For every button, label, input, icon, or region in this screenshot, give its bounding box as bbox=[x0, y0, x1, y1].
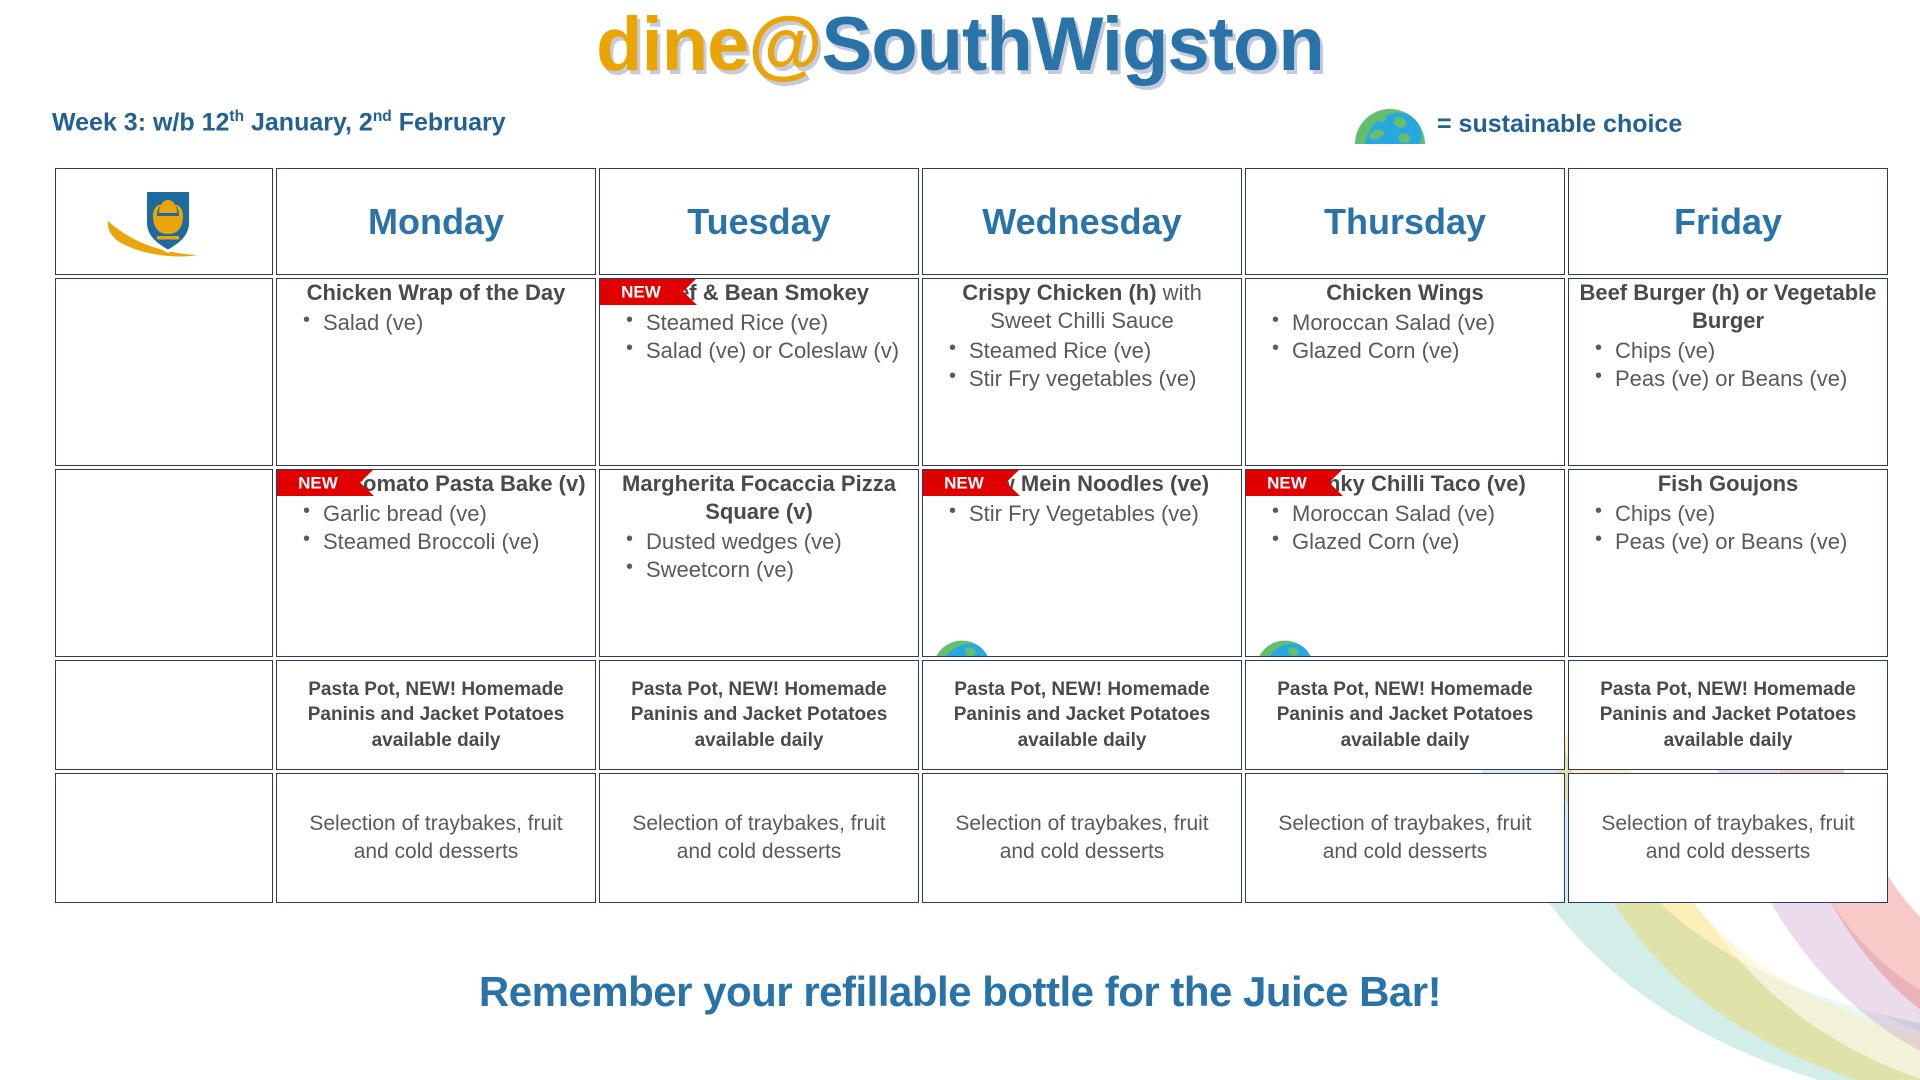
cell-snacks-wednesday: Pasta Pot, NEW! Homemade Paninis and Jac… bbox=[922, 660, 1242, 770]
sides-list: Moroccan Salad (ve) Glazed Corn (ve) bbox=[1246, 309, 1564, 365]
footer: Remember your refillable bottle for the … bbox=[0, 968, 1920, 1016]
dessert-text: Selection of traybakes, fruit and cold d… bbox=[600, 810, 918, 865]
list-item: Peas (ve) or Beans (ve) bbox=[1593, 528, 1887, 556]
dessert-text: Selection of traybakes, fruit and cold d… bbox=[1569, 810, 1887, 865]
cell-option1-thursday: Chicken Wings Moroccan Salad (ve) Glazed… bbox=[1245, 278, 1565, 466]
weekly-menu-table: Monday Tuesday Wednesday Thursday Friday… bbox=[52, 165, 1891, 906]
list-item: Salad (ve) or Coleslaw (v) bbox=[624, 337, 918, 365]
cell-inner: Crispy Chicken (h) with Sweet Chilli Sau… bbox=[923, 279, 1241, 465]
list-item: Steamed Rice (ve) bbox=[624, 309, 918, 337]
dish-title: Chicken Wrap of the Day bbox=[277, 279, 595, 307]
dish-title-bold: Fish Goujons bbox=[1658, 471, 1799, 496]
list-item: Chips (ve) bbox=[1593, 337, 1887, 365]
dish-title-bold: Beef Burger (h) or Vegetable Burger bbox=[1579, 280, 1876, 333]
cell-inner: Margherita Focaccia Pizza Square (v) Dus… bbox=[600, 470, 918, 656]
footer-text: Remember your refillable bottle for the … bbox=[479, 968, 1441, 1016]
list-item: Garlic bread (ve) bbox=[301, 500, 595, 528]
list-item: Salad (ve) bbox=[301, 309, 595, 337]
dessert-text: Selection of traybakes, fruit and cold d… bbox=[923, 810, 1241, 865]
list-item: Steamed Rice (ve) bbox=[947, 337, 1241, 365]
globe-icon bbox=[1355, 104, 1425, 144]
snack-text: Pasta Pot, NEW! Homemade Paninis and Jac… bbox=[277, 677, 595, 753]
dish-title-bold: Beef & Bean Smokey bbox=[649, 280, 869, 305]
title-blue-part: SouthWigston bbox=[822, 2, 1324, 87]
cell-dessert-friday: Selection of traybakes, fruit and cold d… bbox=[1568, 773, 1888, 903]
sides-list: Chips (ve) Peas (ve) or Beans (ve) bbox=[1569, 337, 1887, 393]
list-item: Peas (ve) or Beans (ve) bbox=[1593, 365, 1887, 393]
cell-snacks-tuesday: Pasta Pot, NEW! Homemade Paninis and Jac… bbox=[599, 660, 919, 770]
menu-poster: dine@SouthWigston Week 3: w/b 12th Janua… bbox=[0, 0, 1920, 1080]
dessert-text: Selection of traybakes, fruit and cold d… bbox=[277, 810, 595, 865]
cell-dessert-monday: Selection of traybakes, fruit and cold d… bbox=[276, 773, 596, 903]
list-item: Sweetcorn (ve) bbox=[624, 556, 918, 584]
day-header-thursday: Thursday bbox=[1245, 168, 1565, 275]
day-header-tuesday: Tuesday bbox=[599, 168, 919, 275]
cell-inner: NEW Chunky Chilli Taco (ve) Moroccan Sal… bbox=[1246, 470, 1564, 656]
sides-list: Dusted wedges (ve) Sweetcorn (ve) bbox=[600, 528, 918, 584]
dish-title: Chunky Chilli Taco (ve) bbox=[1246, 470, 1564, 498]
table-row-dessert: Dessert Selection of traybakes, fruit an… bbox=[55, 773, 1888, 903]
week-sup-nd: nd bbox=[373, 108, 392, 125]
globe-icon bbox=[933, 636, 991, 657]
week-sup-th: th bbox=[229, 108, 244, 125]
week-prefix: Week 3: w/b 12 bbox=[52, 108, 229, 136]
cell-snacks-friday: Pasta Pot, NEW! Homemade Paninis and Jac… bbox=[1568, 660, 1888, 770]
dessert-text: Selection of traybakes, fruit and cold d… bbox=[1246, 810, 1564, 865]
list-item: Glazed Corn (ve) bbox=[1270, 337, 1564, 365]
row-label-option-2: Option 2 bbox=[55, 469, 273, 657]
snack-text: Pasta Pot, NEW! Homemade Paninis and Jac… bbox=[1246, 677, 1564, 753]
dish-title: Beef Burger (h) or Vegetable Burger bbox=[1569, 279, 1887, 335]
cell-inner: NEW Beef & Bean Smokey Steamed Rice (ve)… bbox=[600, 279, 918, 465]
dish-title: Chicken Wings bbox=[1246, 279, 1564, 307]
dish-title: Margherita Focaccia Pizza Square (v) bbox=[600, 470, 918, 526]
sustainable-legend: = sustainable choice bbox=[1355, 104, 1682, 144]
sides-list: Steamed Rice (ve) Stir Fry vegetables (v… bbox=[923, 337, 1241, 393]
week-heading: Week 3: w/b 12th January, 2nd February bbox=[52, 108, 506, 137]
sides-list: Salad (ve) bbox=[277, 309, 595, 337]
dish-title-bold: Chicken Wrap of the Day bbox=[307, 280, 566, 305]
dish-title: Tangy tomato Pasta Bake (v) bbox=[277, 470, 595, 498]
table-header-row: Monday Tuesday Wednesday Thursday Friday bbox=[55, 168, 1888, 275]
snack-text: Pasta Pot, NEW! Homemade Paninis and Jac… bbox=[600, 677, 918, 753]
cell-inner: Chicken Wrap of the Day Salad (ve) bbox=[277, 279, 595, 465]
snack-text: Pasta Pot, NEW! Homemade Paninis and Jac… bbox=[1569, 677, 1887, 753]
list-item: Dusted wedges (ve) bbox=[624, 528, 918, 556]
dish-title-bold: Chow Mein Noodles (ve) bbox=[955, 471, 1209, 496]
dish-title: Chow Mein Noodles (ve) bbox=[923, 470, 1241, 498]
poster-title: dine@SouthWigston bbox=[0, 2, 1920, 87]
cell-option1-wednesday: Crispy Chicken (h) with Sweet Chilli Sau… bbox=[922, 278, 1242, 466]
dish-title: Crispy Chicken (h) with Sweet Chilli Sau… bbox=[923, 279, 1241, 335]
list-item: Chips (ve) bbox=[1593, 500, 1887, 528]
cell-option2-wednesday: NEW Chow Mein Noodles (ve) Stir Fry Vege… bbox=[922, 469, 1242, 657]
cell-option2-tuesday: Margherita Focaccia Pizza Square (v) Dus… bbox=[599, 469, 919, 657]
cell-option1-friday: Beef Burger (h) or Vegetable Burger Chip… bbox=[1568, 278, 1888, 466]
cell-inner: NEW Chow Mein Noodles (ve) Stir Fry Vege… bbox=[923, 470, 1241, 656]
cell-inner: Chicken Wings Moroccan Salad (ve) Glazed… bbox=[1246, 279, 1564, 465]
sides-list: Garlic bread (ve) Steamed Broccoli (ve) bbox=[277, 500, 595, 556]
list-item: Glazed Corn (ve) bbox=[1270, 528, 1564, 556]
row-label-snacks: Snacks bbox=[55, 660, 273, 770]
cell-dessert-thursday: Selection of traybakes, fruit and cold d… bbox=[1245, 773, 1565, 903]
dish-title-bold: Tangy tomato Pasta Bake (v) bbox=[286, 471, 585, 496]
cell-option1-tuesday: NEW Beef & Bean Smokey Steamed Rice (ve)… bbox=[599, 278, 919, 466]
table-row-option-1: Option 1 Chicken Wrap of the Day Salad (… bbox=[55, 278, 1888, 466]
cell-inner: Fish Goujons Chips (ve) Peas (ve) or Bea… bbox=[1569, 470, 1887, 656]
list-item: Moroccan Salad (ve) bbox=[1270, 309, 1564, 337]
list-item: Steamed Broccoli (ve) bbox=[301, 528, 595, 556]
list-item: Moroccan Salad (ve) bbox=[1270, 500, 1564, 528]
cell-option2-thursday: NEW Chunky Chilli Taco (ve) Moroccan Sal… bbox=[1245, 469, 1565, 657]
sides-list: Steamed Rice (ve) Salad (ve) or Coleslaw… bbox=[600, 309, 918, 365]
school-logo-cell bbox=[55, 168, 273, 275]
dish-title: Fish Goujons bbox=[1569, 470, 1887, 498]
table-row-snacks: Snacks Pasta Pot, NEW! Homemade Paninis … bbox=[55, 660, 1888, 770]
snack-text: Pasta Pot, NEW! Homemade Paninis and Jac… bbox=[923, 677, 1241, 753]
day-header-monday: Monday bbox=[276, 168, 596, 275]
day-header-friday: Friday bbox=[1568, 168, 1888, 275]
dish-title-bold: Chunky Chilli Taco (ve) bbox=[1284, 471, 1526, 496]
legend-label: = sustainable choice bbox=[1437, 110, 1682, 139]
row-label-option-1: Option 1 bbox=[55, 278, 273, 466]
cell-dessert-tuesday: Selection of traybakes, fruit and cold d… bbox=[599, 773, 919, 903]
dish-title-bold: Crispy Chicken (h) bbox=[962, 280, 1156, 305]
cell-dessert-wednesday: Selection of traybakes, fruit and cold d… bbox=[922, 773, 1242, 903]
cell-option1-monday: Chicken Wrap of the Day Salad (ve) bbox=[276, 278, 596, 466]
globe-icon bbox=[1256, 636, 1314, 657]
week-mid: January, 2 bbox=[244, 108, 373, 136]
title-gold-part: dine@ bbox=[596, 2, 821, 87]
school-crest-logo-icon bbox=[56, 169, 273, 269]
week-suffix: February bbox=[392, 108, 506, 136]
sides-list: Stir Fry Vegetables (ve) bbox=[923, 500, 1241, 528]
cell-inner: NEW Tangy tomato Pasta Bake (v) Garlic b… bbox=[277, 470, 595, 656]
table-row-option-2: Option 2 NEW Tangy tomato Pasta Bake (v)… bbox=[55, 469, 1888, 657]
dish-title-bold: Chicken Wings bbox=[1326, 280, 1484, 305]
list-item: Stir Fry Vegetables (ve) bbox=[947, 500, 1241, 528]
dish-title-bold: Margherita Focaccia Pizza Square (v) bbox=[622, 471, 896, 524]
sides-list: Chips (ve) Peas (ve) or Beans (ve) bbox=[1569, 500, 1887, 556]
cell-snacks-monday: Pasta Pot, NEW! Homemade Paninis and Jac… bbox=[276, 660, 596, 770]
day-header-wednesday: Wednesday bbox=[922, 168, 1242, 275]
cell-option2-friday: Fish Goujons Chips (ve) Peas (ve) or Bea… bbox=[1568, 469, 1888, 657]
cell-snacks-thursday: Pasta Pot, NEW! Homemade Paninis and Jac… bbox=[1245, 660, 1565, 770]
sides-list: Moroccan Salad (ve) Glazed Corn (ve) bbox=[1246, 500, 1564, 556]
cell-option2-monday: NEW Tangy tomato Pasta Bake (v) Garlic b… bbox=[276, 469, 596, 657]
dish-title: Beef & Bean Smokey bbox=[600, 279, 918, 307]
row-label-dessert: Dessert bbox=[55, 773, 273, 903]
cell-inner: Beef Burger (h) or Vegetable Burger Chip… bbox=[1569, 279, 1887, 465]
list-item: Stir Fry vegetables (ve) bbox=[947, 365, 1241, 393]
